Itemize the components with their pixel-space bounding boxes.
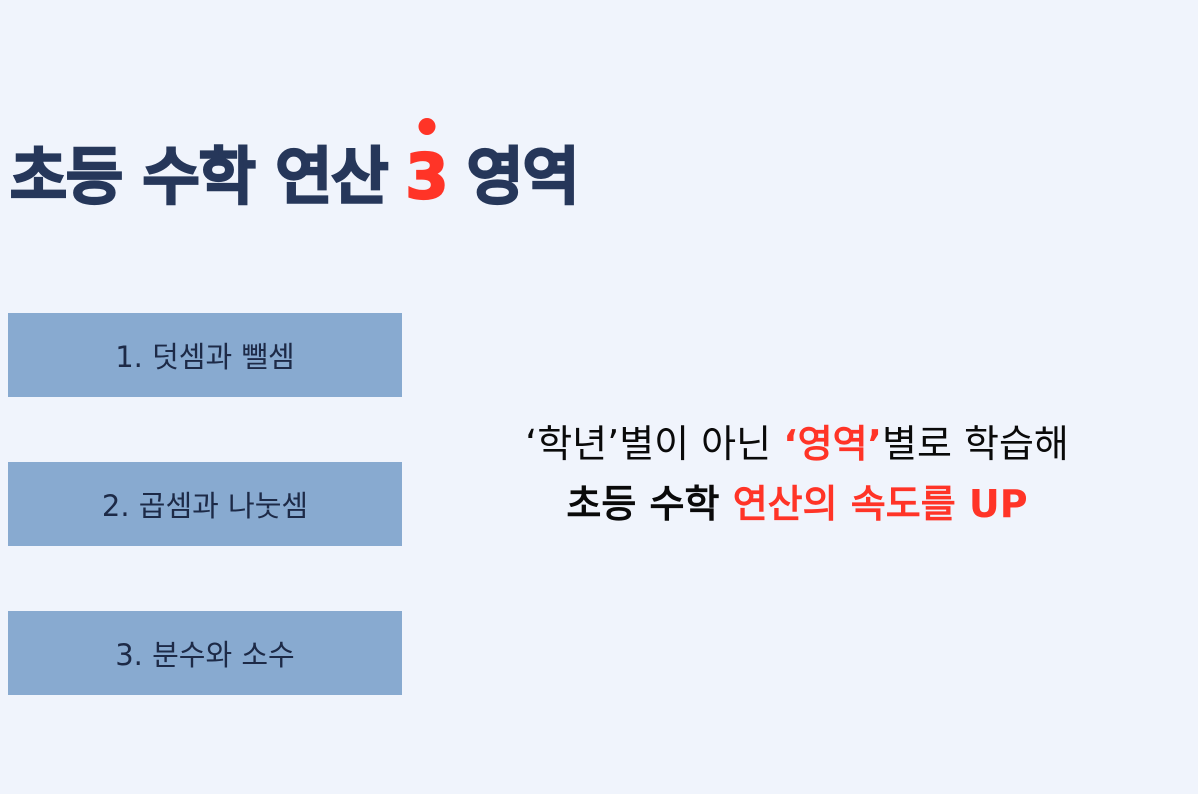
title-accent-number-group: 3 (403, 146, 450, 208)
title-accent-number: 3 (405, 140, 448, 213)
slide-canvas: 초등 수학 연산 3 영역 1. 덧셈과 뺄셈 2. 곱셈과 나눗셈 3. 분수… (0, 0, 1198, 794)
category-label: 3. 분수와 소수 (115, 632, 295, 674)
category-box-fractions-decimals[interactable]: 3. 분수와 소수 (8, 611, 402, 695)
description-line-1-after: 별로 학습해 (882, 422, 1069, 466)
description-block: ‘학년’별이 아닌 ‘영역’별로 학습해 초등 수학 연산의 속도를 UP (412, 414, 1182, 534)
description-line-2-before: 초등 수학 (566, 482, 732, 526)
page-title-part-2: 영역 (467, 146, 579, 208)
description-line-2: 초등 수학 연산의 속도를 UP (412, 474, 1182, 534)
page-title-part-1: 초등 수학 연산 (10, 146, 387, 208)
category-box-multiplication-division[interactable]: 2. 곱셈과 나눗셈 (8, 462, 402, 546)
description-line-1-highlight: ‘영역’ (783, 422, 882, 466)
emphasis-dot-icon (418, 118, 435, 135)
category-box-addition-subtraction[interactable]: 1. 덧셈과 뺄셈 (8, 313, 402, 397)
description-line-1: ‘학년’별이 아닌 ‘영역’별로 학습해 (412, 414, 1182, 474)
description-line-1-before: ‘학년’별이 아닌 (525, 422, 783, 466)
page-title: 초등 수학 연산 3 영역 (10, 104, 579, 208)
category-label: 1. 덧셈과 뺄셈 (115, 334, 295, 376)
description-line-2-highlight: 연산의 속도를 UP (733, 482, 1028, 526)
category-label: 2. 곱셈과 나눗셈 (102, 483, 308, 525)
